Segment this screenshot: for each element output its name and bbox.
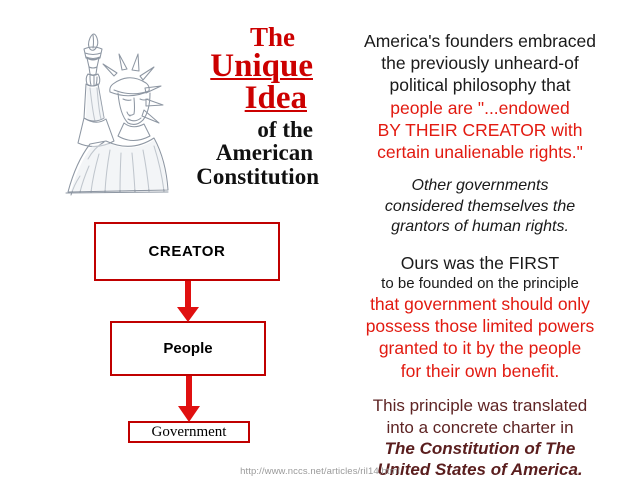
title-line-american: American [98, 141, 313, 164]
flow-box-creator: CREATOR [94, 222, 280, 281]
paragraph-founders-line-3: political philosophy that [322, 74, 638, 96]
paragraph-other-governments: Other governments considered themselves … [322, 176, 638, 237]
spacer-3 [322, 382, 638, 395]
title-line-idea: Idea [98, 82, 307, 116]
paragraph-founded-on-principle-line-1: to be founded on the principle [322, 274, 638, 293]
paragraph-limited-powers-line-3: granted to it by the people [322, 337, 638, 359]
paragraph-limited-powers-line-1: that government should only [322, 293, 638, 315]
arrow-people-to-government [176, 376, 202, 422]
paragraph-endowed-quote: people are "...endowed BY THEIR CREATOR … [322, 97, 638, 164]
paragraph-founded-on-principle: to be founded on the principle [322, 274, 638, 293]
title-line-constitution: Constitution [98, 165, 319, 188]
body-text-column: America's founders embraced the previous… [322, 30, 638, 481]
title-line-unique: Unique [98, 50, 313, 84]
paragraph-limited-powers: that government should only possess thos… [322, 293, 638, 382]
title-line-of-the: of the [98, 118, 313, 141]
spacer-2 [322, 238, 638, 252]
paragraph-concrete-charter: This principle was translated into a con… [322, 395, 638, 439]
paragraph-endowed-quote-line-1: people are "...endowed [322, 97, 638, 119]
flow-box-government-label: Government [152, 424, 227, 441]
flow-box-creator-label: CREATOR [149, 243, 226, 260]
arrow-creator-to-people [175, 281, 201, 322]
paragraph-other-governments-line-3: grantors of human rights. [322, 217, 638, 237]
paragraph-ours-was-first: Ours was the FIRST [322, 252, 638, 274]
flow-box-people: People [110, 321, 266, 376]
paragraph-founders-line-1: America's founders embraced [322, 30, 638, 52]
paragraph-concrete-charter-line-2: into a concrete charter in [322, 417, 638, 439]
paragraph-other-governments-line-1: Other governments [322, 176, 638, 196]
paragraph-constitution-title-line-1: The Constitution of The [322, 439, 638, 460]
paragraph-concrete-charter-line-1: This principle was translated [322, 395, 638, 417]
slide-canvas: The Unique Idea of the American Constitu… [0, 0, 640, 495]
flow-box-people-label: People [163, 340, 212, 357]
paragraph-founders-line-2: the previously unheard-of [322, 52, 638, 74]
paragraph-endowed-quote-line-2: BY THEIR CREATOR with [322, 119, 638, 141]
paragraph-other-governments-line-2: considered themselves the [322, 197, 638, 217]
flow-box-government: Government [128, 421, 250, 443]
spacer-1 [322, 163, 638, 176]
paragraph-limited-powers-line-2: possess those limited powers [322, 315, 638, 337]
paragraph-endowed-quote-line-3: certain unalienable rights." [322, 141, 638, 163]
page-title: The Unique Idea of the American Constitu… [98, 24, 313, 188]
source-url[interactable]: http://www.nccs.net/articles/ril14.html [0, 466, 640, 477]
paragraph-limited-powers-line-4: for their own benefit. [322, 360, 638, 382]
paragraph-ours-was-first-line-1: Ours was the FIRST [322, 252, 638, 274]
paragraph-founders: America's founders embraced the previous… [322, 30, 638, 97]
